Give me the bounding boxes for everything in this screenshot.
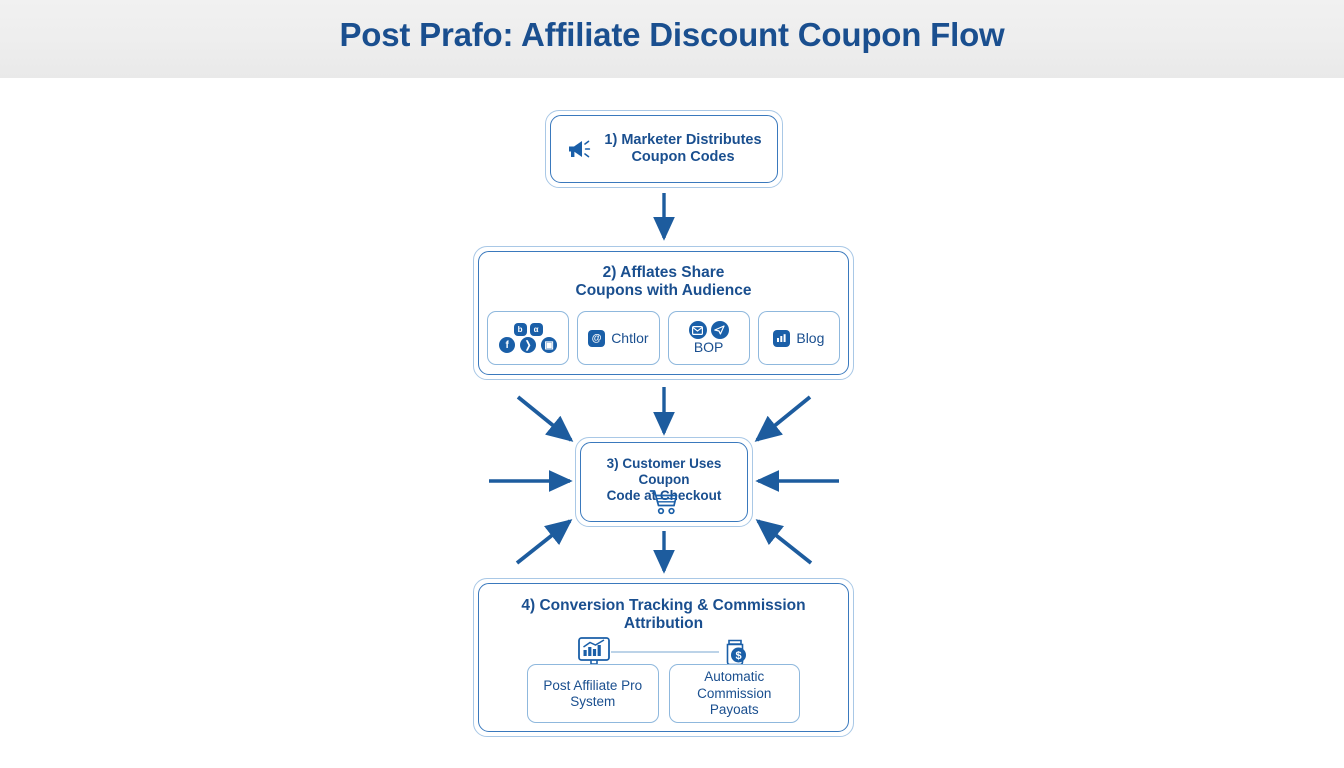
megaphone-icon	[566, 137, 596, 161]
step-2-title: 2) Afflates Share Coupons with Audience	[479, 264, 848, 301]
social-badge-icon: α	[530, 323, 543, 336]
arrow-step2-left-to-step3	[518, 397, 571, 440]
channel-chatbot[interactable]: @ Chtlor	[577, 311, 659, 365]
step-1-card[interactable]: 1) Marketer Distributes Coupon Codes	[545, 110, 783, 188]
bop-icons	[689, 321, 729, 339]
channel-row: b α f ❭ ▣ @ Chtlor	[487, 311, 840, 365]
step-3-title-line1: 3) Customer Uses Coupon	[581, 456, 747, 488]
cart-wrapper	[581, 489, 747, 515]
channel-social[interactable]: b α f ❭ ▣	[487, 311, 569, 365]
tracking-icons: $	[479, 636, 848, 668]
outcome-automatic-commission-payoats[interactable]: Automatic Commission Payoats	[669, 664, 801, 723]
instagram-icon[interactable]: ▣	[541, 337, 557, 353]
step-4-title-line2: Attribution	[479, 615, 848, 633]
email-icon	[689, 321, 707, 339]
channel-chatbot-label: Chtlor	[611, 331, 648, 346]
step-1-title: 1) Marketer Distributes Coupon Codes	[604, 132, 761, 166]
social-badges: b α	[514, 323, 543, 336]
send-icon	[711, 321, 729, 339]
bar-chart-icon	[773, 330, 790, 347]
page-title: Post Prafo: Affiliate Discount Coupon Fl…	[0, 16, 1344, 54]
behance-badge-icon: b	[514, 323, 527, 336]
diagram-canvas: Post Prafo: Affiliate Discount Coupon Fl…	[0, 0, 1344, 768]
step-1-title-line2: Coupon Codes	[604, 149, 761, 166]
arrow-bottom-left-into-step3	[517, 521, 570, 563]
step-4-card[interactable]: 4) Conversion Tracking & Commission Attr…	[473, 578, 854, 737]
facebook-icon[interactable]: f	[499, 337, 515, 353]
outcome-row: Post Affiliate Pro System Automatic Comm…	[527, 664, 800, 723]
step-4-title-line1: 4) Conversion Tracking & Commission	[479, 597, 848, 615]
channel-bop-label: BOP	[694, 340, 724, 355]
step-3-card[interactable]: 3) Customer Uses Coupon Code at Checkout	[575, 437, 753, 527]
outcome-post-affiliate-pro-system[interactable]: Post Affiliate Pro System	[527, 664, 659, 723]
tracking-connector-line	[611, 651, 719, 653]
svg-text:$: $	[735, 650, 741, 662]
channel-blog-label: Blog	[796, 331, 824, 346]
step-1-title-line1: 1) Marketer Distributes	[604, 132, 761, 149]
at-sign-icon: @	[588, 330, 605, 347]
monitor-analytics-icon	[577, 636, 611, 668]
money-jar-icon: $	[719, 636, 751, 668]
arrow-step2-right-to-step3	[757, 397, 810, 440]
social-icons: f ❭ ▣	[499, 337, 557, 353]
twitter-icon[interactable]: ❭	[520, 337, 536, 353]
step-4-title: 4) Conversion Tracking & Commission Attr…	[479, 597, 848, 634]
step-2-title-line2: Coupons with Audience	[479, 282, 848, 300]
shopping-cart-icon	[649, 489, 679, 515]
step-2-title-line1: 2) Afflates Share	[479, 264, 848, 282]
channel-blog[interactable]: Blog	[758, 311, 840, 365]
step-2-card[interactable]: 2) Afflates Share Coupons with Audience …	[473, 246, 854, 380]
channel-bop[interactable]: BOP	[668, 311, 750, 365]
arrow-bottom-right-into-step3	[758, 521, 811, 563]
